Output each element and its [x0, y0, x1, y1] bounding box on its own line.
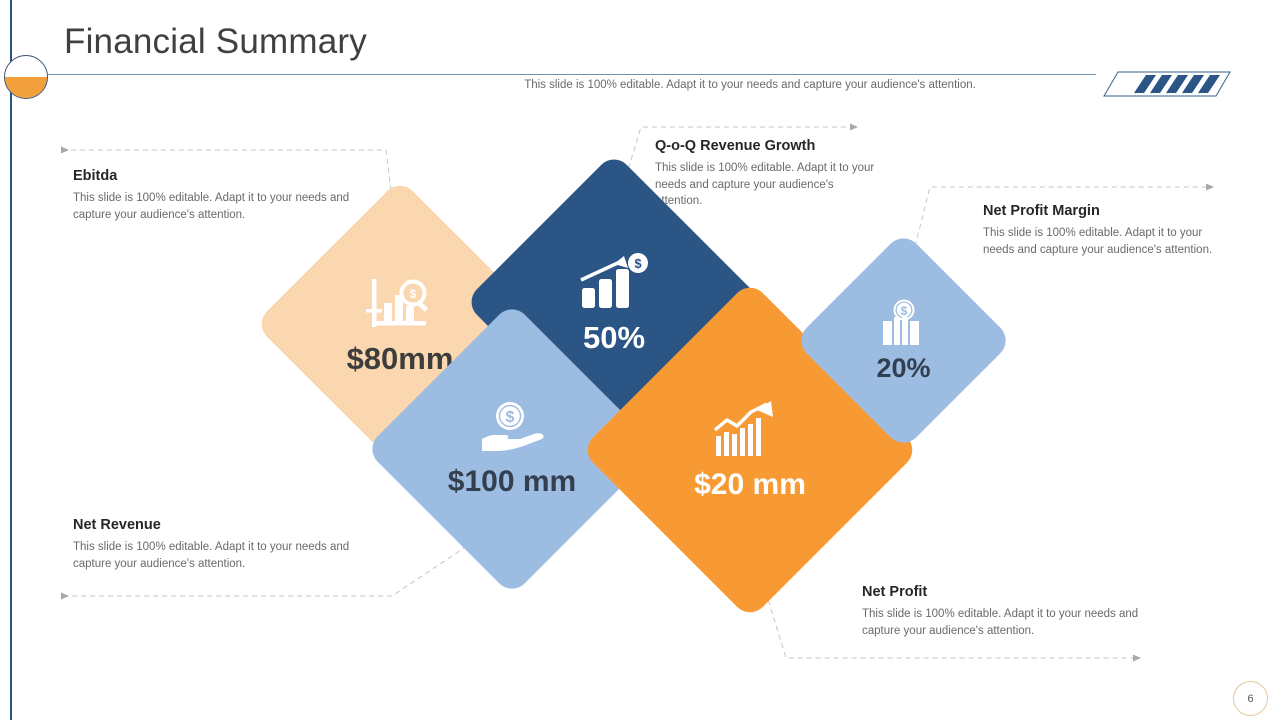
bar-chart-dollar-coin-icon: $: [875, 299, 933, 349]
left-accent-rule: [10, 0, 12, 720]
rising-chart-arrow-icon: [713, 400, 787, 460]
svg-text:$: $: [634, 256, 642, 271]
label-block-ebitda: Ebitda This slide is 100% editable. Adap…: [73, 168, 373, 223]
block-heading: Net Revenue: [73, 517, 373, 533]
label-block-net-profit: Net Profit This slide is 100% editable. …: [862, 584, 1162, 639]
svg-text:$: $: [506, 409, 515, 426]
metric-value: 20%: [876, 355, 930, 382]
header-divider: [36, 74, 1096, 75]
block-heading: Net Profit Margin: [983, 203, 1213, 219]
growth-bars-arrow-dollar-icon: $: [578, 252, 650, 314]
badge-fill-shape: [4, 77, 48, 99]
label-block-net-profit-margin: Net Profit Margin This slide is 100% edi…: [983, 203, 1213, 258]
label-block-net-revenue: Net Revenue This slide is 100% editable.…: [73, 517, 373, 572]
header-subtitle: This slide is 100% editable. Adapt it to…: [480, 79, 1020, 91]
bar-chart-magnifier-dollar-icon: $: [365, 275, 435, 337]
half-filled-circle-icon: [4, 55, 48, 99]
metric-diamond-net-revenue[interactable]: $ $100 mm: [408, 345, 616, 553]
metric-value: $100 mm: [448, 467, 576, 497]
metric-diamond-net-profit-margin[interactable]: $ 20%: [826, 263, 981, 418]
hand-holding-dollar-coin-icon: $: [476, 401, 548, 459]
metric-value: $20 mm: [694, 470, 806, 500]
block-body: This slide is 100% editable. Adapt it to…: [862, 606, 1162, 639]
block-heading: Q-o-Q Revenue Growth: [655, 138, 880, 154]
block-body: This slide is 100% editable. Adapt it to…: [73, 539, 373, 572]
block-body: This slide is 100% editable. Adapt it to…: [73, 190, 373, 223]
slide-canvas: Financial Summary This slide is 100% edi…: [0, 0, 1280, 720]
block-body: This slide is 100% editable. Adapt it to…: [983, 225, 1213, 258]
block-heading: Net Profit: [862, 584, 1162, 600]
striped-parallelogram-icon: [1096, 70, 1232, 98]
svg-text:$: $: [410, 287, 417, 301]
page-number-badge: 6: [1233, 681, 1268, 716]
page-title: Financial Summary: [64, 22, 367, 62]
svg-text:$: $: [900, 304, 907, 318]
block-heading: Ebitda: [73, 168, 373, 184]
